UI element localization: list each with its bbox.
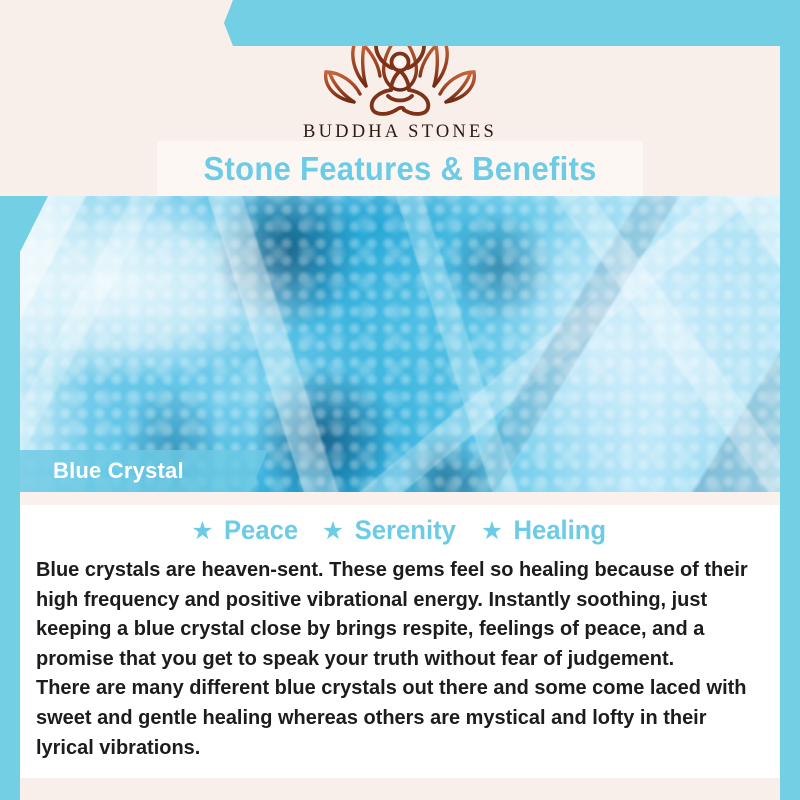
feature-label-peace: Peace: [224, 515, 298, 546]
page-title: Stone Features & Benefits: [203, 150, 596, 188]
panel-bottom-strip: [20, 778, 780, 800]
frame-accent-left: [0, 196, 20, 800]
description-paragraph-1: Blue crystals are heaven-sent. These gem…: [36, 555, 758, 673]
feature-label-serenity: Serenity: [355, 515, 456, 546]
feature-label-healing: Healing: [514, 515, 607, 546]
feature-item-peace: ★ Peace: [191, 515, 300, 546]
photo-caption-tag: Blue Crystal: [20, 450, 268, 492]
features-row: ★ Peace ★ Serenity ★ Healing: [20, 515, 780, 546]
feature-item-serenity: ★ Serenity: [322, 515, 459, 546]
star-icon: ★: [322, 519, 344, 544]
description-text: Blue crystals are heaven-sent. These gem…: [36, 555, 758, 762]
star-icon: ★: [191, 519, 213, 544]
content-panel: ★ Peace ★ Serenity ★ Healing Blue crysta…: [20, 492, 780, 778]
panel-top-tint: [20, 492, 780, 505]
frame-accent-top: [215, 0, 800, 46]
photo-vignette-layer: [20, 196, 780, 492]
brand-name: BUDDHA STONES: [0, 122, 800, 143]
frame-accent-right: [780, 0, 800, 800]
feature-item-healing: ★ Healing: [481, 515, 609, 546]
title-banner: Stone Features & Benefits: [157, 141, 643, 196]
blue-crystal-photo: [20, 196, 780, 492]
star-icon: ★: [481, 519, 503, 544]
stone-features-poster: BUDDHA STONES Stone Features & Benefits …: [0, 0, 800, 800]
description-paragraph-2: There are many different blue crystals o…: [36, 673, 758, 762]
photo-caption-label: Blue Crystal: [53, 458, 184, 484]
